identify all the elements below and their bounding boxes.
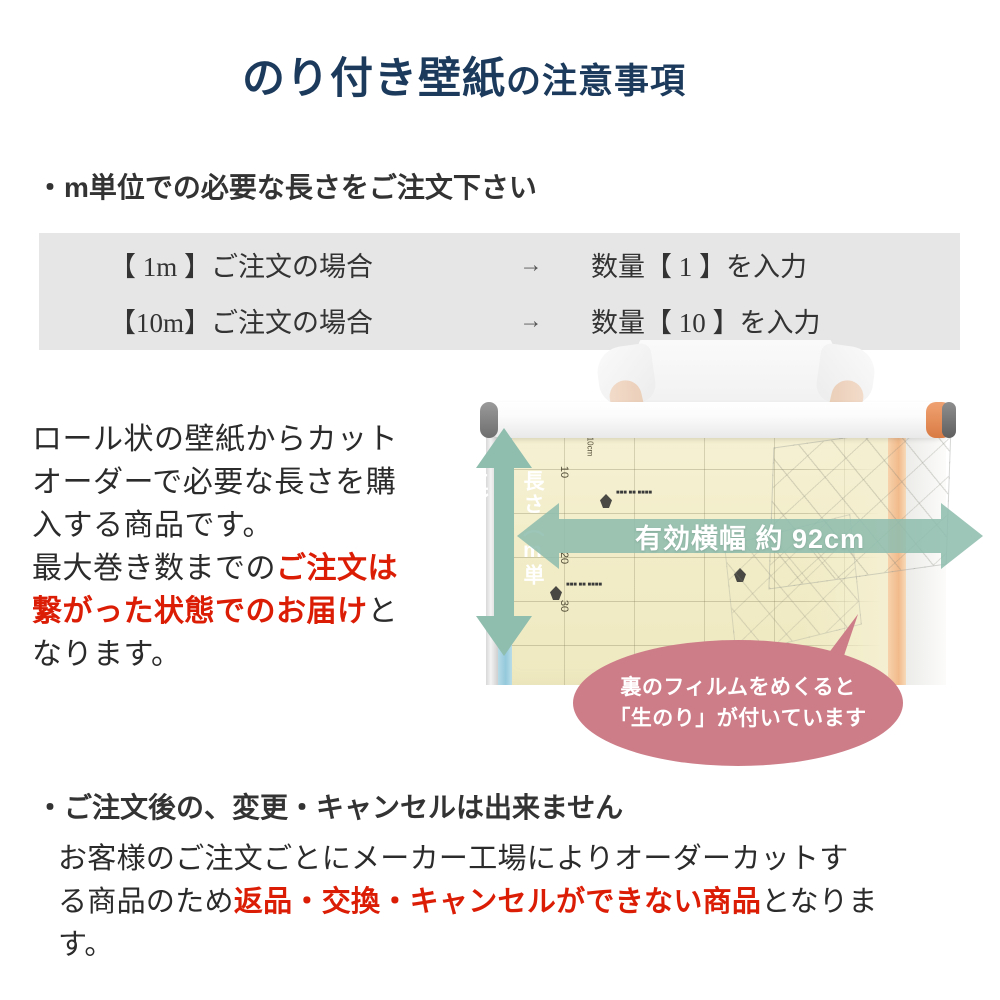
arrow-right-icon: → xyxy=(471,307,591,334)
description-line-4: 最大巻き数までの xyxy=(32,552,276,585)
cancellation-line-2: る商品のため xyxy=(58,886,234,918)
cancellation-line-2-tail: となりま xyxy=(761,886,877,918)
description-line-5-tail: と xyxy=(368,595,399,628)
wallpaper-mark-note: ■■■ ■■ ■■■■ xyxy=(566,582,610,589)
infographic-page: のり付き壁紙の注意事項 ・m単位での必要な長さをご注文下さい 【 1m 】ご注文… xyxy=(0,0,1000,1000)
quantity-cell: 数量【 1 】を入力 xyxy=(591,245,807,284)
table-row: 【 1m 】ご注文の場合 → 数量【 1 】を入力 xyxy=(39,235,960,293)
description-line-3: 入する商品です。 xyxy=(32,509,273,542)
page-title: のり付き壁紙の注意事項 xyxy=(242,44,686,106)
bullet-order-unit: ・m単位での必要な長さをご注文下さい xyxy=(36,166,537,206)
order-cell: 【 1m 】ご注文の場合 xyxy=(39,245,471,284)
description-line-1: ロール状の壁紙からカット xyxy=(32,423,398,456)
order-example-table: 【 1m 】ご注文の場合 → 数量【 1 】を入力 【10m】ご注文の場合 → … xyxy=(39,233,960,350)
roll-core-right xyxy=(942,402,956,438)
bullet-no-cancel: ・ご注文後の、変更・キャンセルは出来ません xyxy=(36,786,623,826)
cancellation-line-1: お客様のご注文ごとにメーカー工場によりオーダーカットす xyxy=(58,843,849,875)
cancellation-emphasis: 返品・交換・キャンセルができない商品 xyxy=(234,886,761,918)
callout-text: 裏のフィルムをめくると 「生のり」が付いています xyxy=(573,640,903,766)
wallpaper-roll xyxy=(484,402,952,438)
width-arrow-label: 有効横幅 約 92cm xyxy=(517,499,983,573)
description-paragraph: ロール状の壁紙からカット オーダーで必要な長さを購 入する商品です。 最大巻き数… xyxy=(32,418,452,676)
ruler-tick-10cm: 10cm xyxy=(585,437,594,457)
order-cell: 【10m】ご注文の場合 xyxy=(39,301,471,340)
order-example-box: 【 1m 】ご注文の場合 → 数量【 1 】を入力 【10m】ご注文の場合 → … xyxy=(39,233,960,350)
callout-line-2: 「生のり」が付いています xyxy=(609,703,866,734)
cancellation-paragraph: お客様のご注文ごとにメーカー工場によりオーダーカットす る商品のため返品・交換・… xyxy=(58,838,974,967)
arrow-right-icon: → xyxy=(471,251,591,278)
wallpaper-mark-note: ■■■ ■■ ■■■■ xyxy=(616,490,660,497)
callout-line-1: 裏のフィルムをめくると xyxy=(620,672,855,703)
page-title-main: のり付き壁紙 xyxy=(242,55,506,103)
cancellation-line-3: す。 xyxy=(58,929,114,961)
glue-callout: 裏のフィルムをめくると 「生のり」が付いています xyxy=(573,614,903,734)
page-title-suffix: の注意事項 xyxy=(506,62,686,101)
quantity-cell: 数量【 10 】を入力 xyxy=(591,301,821,340)
description-line-2: オーダーで必要な長さを購 xyxy=(32,466,396,499)
description-line-6: なります。 xyxy=(32,638,182,671)
description-line-5-emphasis: 繋がった状態でのお届け xyxy=(32,595,368,628)
description-line-4-emphasis: ご注文は xyxy=(276,552,398,585)
